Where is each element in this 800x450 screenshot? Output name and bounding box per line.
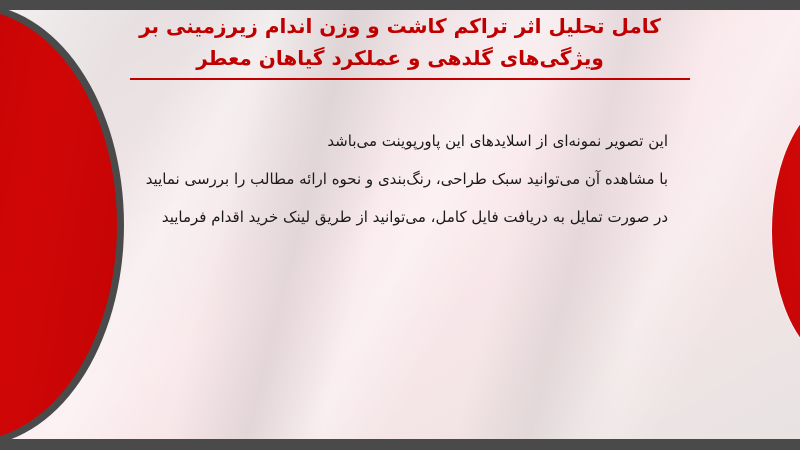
presentation-slide: کامل تحلیل اثر تراکم کاشت و وزن اندام زی… xyxy=(0,0,800,450)
slide-body-text: این تصویر نمونه‌ای از اسلایدهای این پاور… xyxy=(128,122,668,236)
dark-bar-bottom xyxy=(0,439,800,450)
slide-title: کامل تحلیل اثر تراکم کاشت و وزن اندام زی… xyxy=(100,10,700,74)
slide-title-line-1: کامل تحلیل اثر تراکم کاشت و وزن اندام زی… xyxy=(100,10,700,42)
dark-bar-top xyxy=(0,0,800,10)
title-underline-rule xyxy=(130,78,690,80)
slide-title-line-2: ویژگی‌های گلدهی و عملکرد گیاهان معطر xyxy=(100,42,700,74)
body-line-2: با مشاهده آن می‌توانید سبک طراحی، رنگ‌بن… xyxy=(128,160,668,198)
body-line-1: این تصویر نمونه‌ای از اسلایدهای این پاور… xyxy=(128,122,668,160)
body-line-3: در صورت تمایل به دریافت فایل کامل، می‌تو… xyxy=(128,198,668,236)
